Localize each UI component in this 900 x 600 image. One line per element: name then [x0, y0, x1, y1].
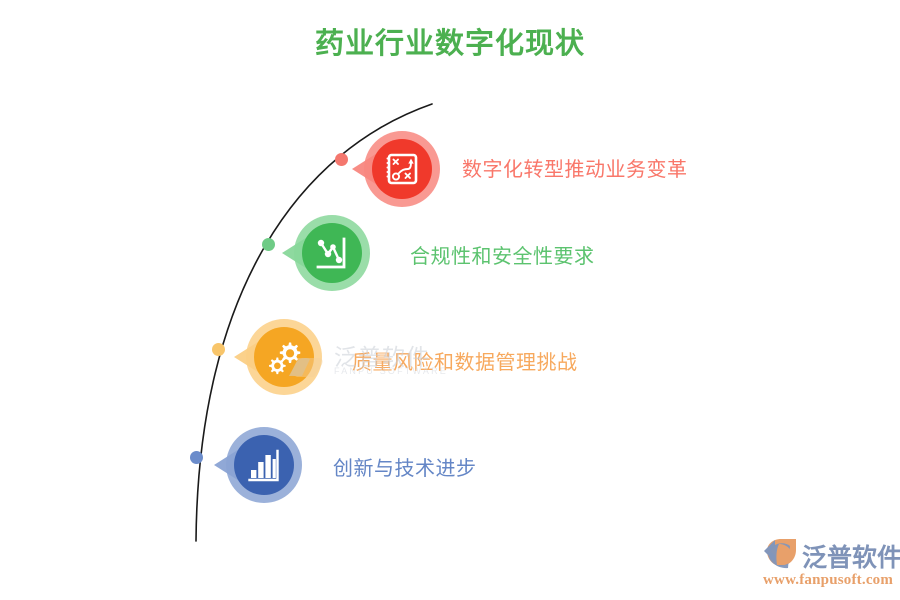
marker-pin-4[interactable] — [214, 424, 306, 506]
node-dot-2 — [262, 238, 275, 251]
node-dot-3 — [212, 343, 225, 356]
marker-pin-1[interactable] — [352, 128, 444, 210]
brand-logo: 泛普软件 www.fanpusoft.com — [762, 536, 894, 594]
infographic-canvas: 药业行业数字化现状 — [0, 0, 900, 600]
marker-label-2: 合规性和安全性要求 — [410, 240, 595, 269]
marker-label-4: 创新与技术进步 — [333, 452, 477, 481]
node-dot-4 — [190, 451, 203, 464]
brand-logo-mark — [762, 538, 800, 572]
marker-label-3: 质量风险和数据管理挑战 — [352, 346, 578, 375]
brand-name: 泛普软件 — [802, 538, 900, 574]
marker-pin-3[interactable] — [234, 316, 326, 398]
curve-arc — [0, 0, 900, 600]
brand-url: www.fanpusoft.com — [763, 572, 893, 589]
node-dot-1 — [335, 153, 348, 166]
marker-label-1: 数字化转型推动业务变革 — [462, 153, 688, 182]
marker-pin-2[interactable] — [282, 212, 374, 294]
page-title: 药业行业数字化现状 — [0, 20, 900, 62]
